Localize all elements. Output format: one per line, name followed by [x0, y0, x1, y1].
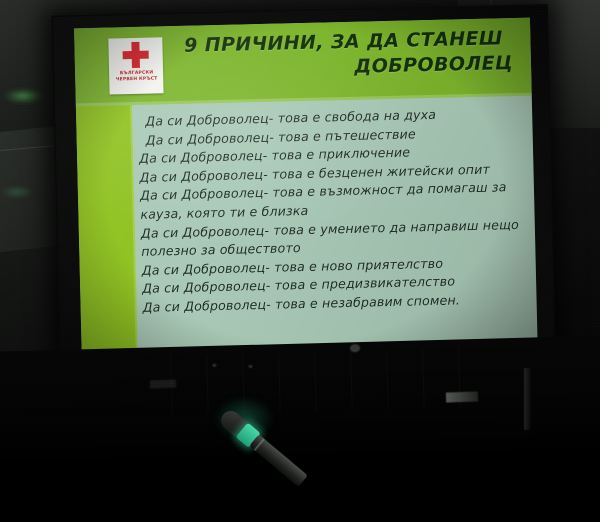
projection-screen: БЪЛГАРСКИ ЧЕРВЕН КРЪСТ 9 ПРИЧИНИ, ЗА ДА …: [52, 4, 557, 384]
presentation-slide: БЪЛГАРСКИ ЧЕРВЕН КРЪСТ 9 ПРИЧИНИ, ЗА ДА …: [74, 18, 538, 356]
logo-caption: БЪЛГАРСКИ ЧЕРВЕН КРЪСТ: [115, 70, 157, 82]
logo-caption-line2: ЧЕРВЕН КРЪСТ: [115, 76, 157, 83]
stage-highlight-dot: [212, 364, 216, 367]
red-cross-icon: [122, 42, 149, 69]
vertical-post: [524, 368, 531, 430]
foreground-dark-stage: [0, 335, 600, 472]
slide-title: 9 ПРИЧИНИ, ЗА ДА СТАНЕШ ДОБРОВОЛЕЦ: [170, 26, 517, 84]
slide-left-accent-bar: [76, 105, 138, 355]
wall-light-plate-secondary: [150, 380, 176, 389]
wall-light-plate: [446, 391, 478, 402]
bulgarian-red-cross-logo: БЪЛГАРСКИ ЧЕРВЕН КРЪСТ: [108, 37, 163, 94]
slide-reason-list: Да си Доброволец- това е свобода на духа…: [138, 104, 525, 346]
